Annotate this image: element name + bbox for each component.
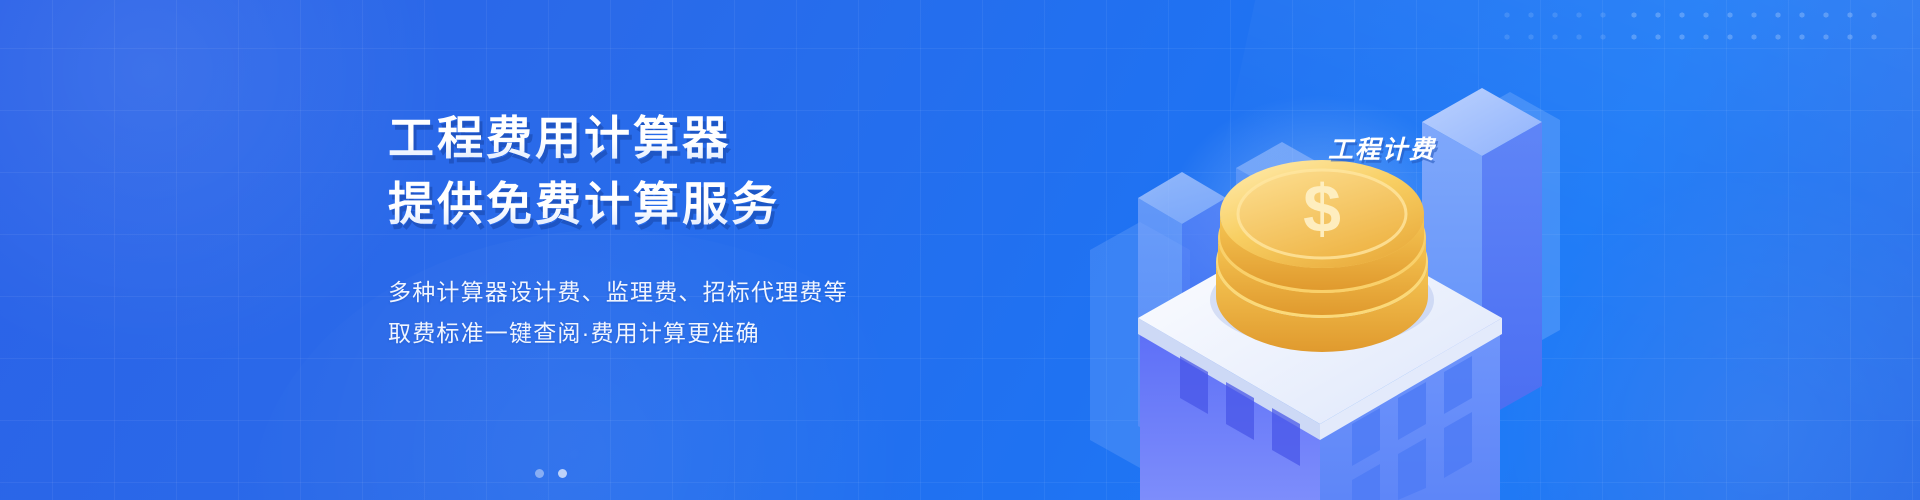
banner-copy: 工程费用计算器 提供免费计算服务 多种计算器设计费、监理费、招标代理费等 取费标… — [388, 108, 1008, 354]
illustration-label: 工程计费 — [1328, 130, 1436, 166]
banner-subtitle-line-2: 取费标准一键查阅·费用计算更准确 — [388, 313, 1008, 354]
banner-illustration: $ 工程计费 — [1030, 0, 1590, 500]
carousel-dot-2[interactable] — [558, 469, 567, 478]
dot-pattern-icon — [1622, 4, 1892, 44]
banner-subtitle-line-1: 多种计算器设计费、监理费、招标代理费等 — [388, 272, 1008, 313]
carousel-dots[interactable] — [535, 469, 567, 478]
isometric-city-icon: $ — [1030, 0, 1590, 500]
carousel-dot-1[interactable] — [535, 469, 544, 478]
hero-banner: 工程费用计算器 提供免费计算服务 多种计算器设计费、监理费、招标代理费等 取费标… — [0, 0, 1920, 500]
dollar-sign-icon: $ — [1303, 171, 1341, 247]
banner-title-line-2: 提供免费计算服务 — [388, 174, 1008, 234]
gold-coin-stack-icon: $ — [1210, 160, 1434, 352]
banner-title-line-1: 工程费用计算器 — [388, 108, 1008, 168]
banner-subtitle: 多种计算器设计费、监理费、招标代理费等 取费标准一键查阅·费用计算更准确 — [388, 272, 1008, 354]
